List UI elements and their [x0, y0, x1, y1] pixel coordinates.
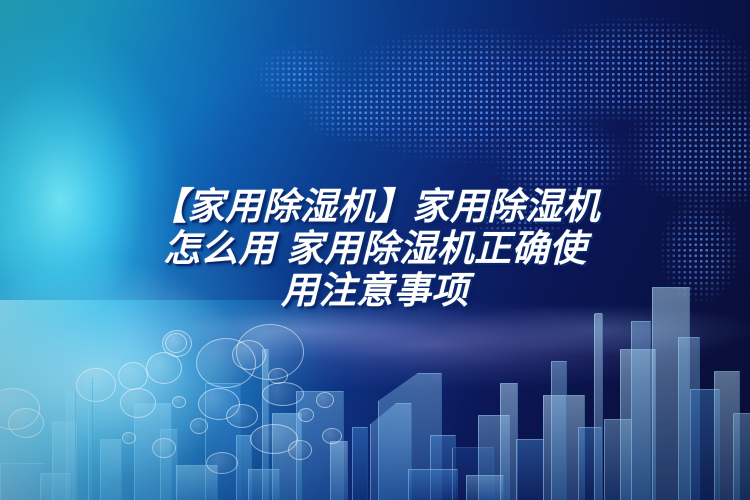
building [248, 469, 280, 500]
bubble-circle [198, 388, 240, 420]
bubble-circle [152, 438, 176, 458]
building [408, 469, 458, 500]
building-spire [594, 313, 603, 500]
building [40, 473, 72, 500]
bubble-circle [76, 368, 116, 402]
building [466, 475, 504, 500]
bubble-circle [8, 408, 44, 438]
poster-title: 【家用除湿机】家用除湿机 怎么用 家用除湿机正确使 用注意事项 [0, 186, 750, 312]
building [631, 321, 651, 500]
bubble-circle [322, 428, 342, 444]
building [330, 441, 348, 500]
bubble-circle [268, 368, 288, 384]
title-line-3: 用注意事项 [0, 270, 750, 312]
bubble-circle [190, 418, 208, 434]
bubble-circle [288, 440, 312, 460]
bubble-circle [122, 432, 136, 444]
bubble-circle [165, 333, 187, 353]
bubble-circle [118, 362, 148, 390]
bubble-circle [316, 392, 334, 408]
building [551, 361, 567, 500]
building [352, 427, 368, 500]
poster-banner: 【家用除湿机】家用除湿机 怎么用 家用除湿机正确使 用注意事项 [0, 0, 750, 500]
bubble-circle [172, 396, 186, 408]
building [516, 439, 544, 500]
title-line-2: 怎么用 家用除湿机正确使 [0, 228, 750, 270]
title-line-1: 【家用除湿机】家用除湿机 [0, 186, 750, 228]
bubble-circle [262, 382, 304, 406]
bubble-circle [298, 408, 314, 422]
bubble-circle [206, 452, 238, 474]
bubble-circle [120, 388, 156, 418]
building [100, 439, 122, 500]
building [733, 413, 750, 500]
building-slanted [370, 403, 412, 500]
